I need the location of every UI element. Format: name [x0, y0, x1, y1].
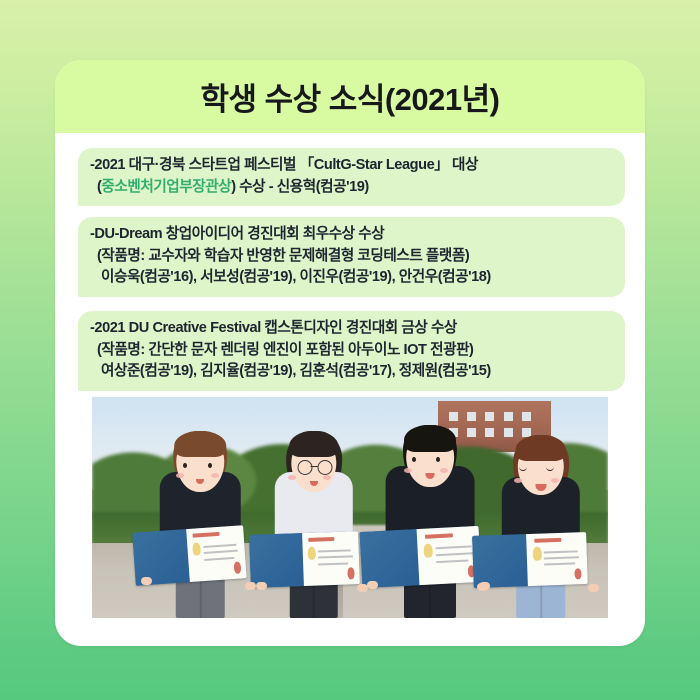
student-figure-4: [489, 419, 592, 618]
student-4-hand-right: [588, 584, 599, 592]
award-ceremony-photo: [92, 397, 608, 618]
student-2-cheek-left: [288, 475, 296, 480]
student-1-hair-front: [175, 431, 227, 457]
student-1-eye-right: [208, 463, 212, 468]
folder-left-panel: [359, 529, 419, 588]
student-2-hand-right: [357, 584, 368, 592]
student-3-cheek-left: [404, 468, 412, 473]
folder-left-panel: [249, 533, 303, 588]
student-4-cheek-right: [551, 478, 559, 483]
award-item-1: -2021 대구·경북 스타트업 페스티벌 「CultG-Star League…: [78, 148, 625, 206]
student-1-cheek-right: [211, 473, 219, 478]
student-2-cheek-right: [323, 475, 331, 480]
award-2-subtitle: (작품명: 교수자와 학습자 반영한 문제해결형 코딩테스트 플랫폼): [97, 246, 613, 268]
folder-left-panel: [472, 535, 528, 589]
student-3-hair-front: [404, 425, 456, 452]
student-2-certificate-folder: [249, 531, 360, 588]
student-3-hand-left: [367, 581, 378, 589]
award-1-subtitle: (중소벤처기업부장관상) 수상 - 신용혁(컴공'19): [97, 177, 613, 199]
student-1-certificate-folder: [133, 525, 248, 586]
student-3-eye-left: [412, 457, 416, 462]
student-4-hair-front: [516, 435, 567, 461]
student-1-eye-left: [183, 463, 187, 468]
award-3-headline: -2021 DU Creative Festival 캡스톤디자인 경진대회 금…: [90, 318, 613, 340]
student-2-hand-left: [256, 582, 267, 590]
certificate-paper: [301, 531, 360, 586]
student-4-certificate-folder: [472, 533, 587, 589]
student-2-hair-front: [289, 431, 339, 457]
award-2-names: 이승욱(컴공'16), 서보성(컴공'19), 이진우(컴공'19), 안건우(…: [101, 267, 613, 289]
award-item-2: -DU-Dream 창업아이디어 경진대회 최우수상 수상 (작품명: 교수자와…: [78, 217, 625, 297]
student-figure-1: [149, 415, 252, 618]
card-header-band: 학생 수상 소식(2021년): [55, 60, 645, 133]
certificate-paper: [526, 533, 587, 587]
award-3-subtitle: (작품명: 간단한 문자 렌더링 엔진이 포함된 아두이노 IOT 전광판): [97, 340, 613, 362]
photo-scene: [92, 397, 608, 618]
certificate-paper: [186, 525, 247, 582]
award-3-names: 여상준(컴공'19), 김지율(컴공'19), 김훈석(컴공'17), 정제원(…: [101, 361, 613, 383]
award-1-subtitle-suffix: ) 수상 - 신용혁(컴공'19): [231, 179, 369, 195]
student-2-glasses-icon: [297, 460, 330, 474]
folder-left-panel: [133, 529, 190, 585]
student-1-cheek-left: [176, 473, 184, 478]
award-item-3: -2021 DU Creative Festival 캡스톤디자인 경진대회 금…: [78, 311, 625, 391]
award-1-ministry-highlight: 중소벤처기업부장관상: [101, 179, 231, 195]
student-3-cheek-right: [440, 468, 448, 473]
award-2-headline: -DU-Dream 창업아이디어 경진대회 최우수상 수상: [90, 224, 613, 246]
poster-canvas: 학생 수상 소식(2021년) -2021 대구·경북 스타트업 페스티벌 「C…: [0, 0, 700, 700]
student-1-hand-right: [245, 582, 256, 590]
student-3-certificate-folder: [359, 526, 481, 588]
page-title: 학생 수상 소식(2021년): [201, 74, 500, 119]
student-4-hand-left: [479, 582, 490, 590]
certificate-paper: [416, 526, 481, 585]
student-4-cheek-left: [514, 478, 522, 483]
student-figure-3: [376, 410, 484, 618]
student-1-hand-left: [141, 577, 152, 585]
award-1-headline: -2021 대구·경북 스타트업 페스티벌 「CultG-Star League…: [90, 155, 613, 177]
student-figure-2: [262, 415, 365, 618]
announcement-card: 학생 수상 소식(2021년) -2021 대구·경북 스타트업 페스티벌 「C…: [55, 60, 645, 646]
